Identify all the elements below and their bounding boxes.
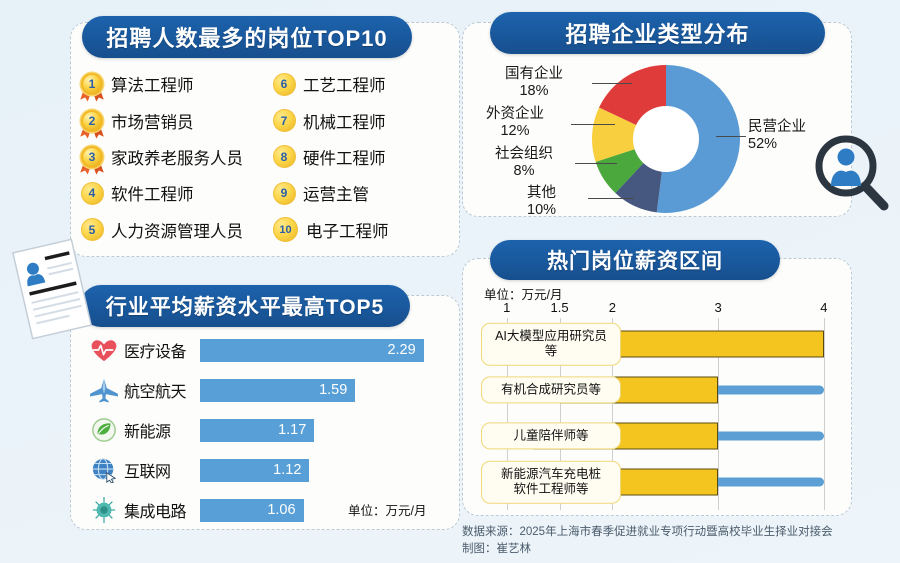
job-item: 8硬件工程师 (272, 139, 455, 175)
medal-badge-icon: 3 (80, 145, 104, 169)
footer: 数据来源：2025年上海市春季促进就业专项行动暨高校毕业生择业对接会 制图：崔艺… (462, 524, 892, 559)
job-title: 运营主管 (303, 181, 369, 205)
rank-badge-icon: 6 (272, 72, 296, 96)
donut-label-waizi: 外资企业 12% (486, 106, 544, 140)
enterprise-type-donut-chart (590, 63, 742, 215)
rank-badge-icon: 5 (80, 218, 104, 242)
top5-salary-title: 行业平均薪资水平最高TOP5 (80, 285, 410, 327)
industry-name: 互联网 (124, 458, 200, 482)
donut-leader-guoyou (592, 83, 632, 84)
donut-label-qita: 其他 10% (527, 185, 556, 219)
industry-name: 医疗设备 (124, 338, 200, 362)
salary-bar-row: 新能源1.17 (84, 410, 454, 450)
job-title: 机械工程师 (303, 109, 386, 133)
airplane-icon (84, 374, 124, 406)
medal-badge-icon: 1 (80, 72, 104, 96)
salary-range-chart: 11.5234AI大模型应用研究员等有机合成研究员等儿童陪伴师等新能源汽车充电桩… (475, 300, 845, 510)
axis-tick-label: 1 (503, 300, 510, 315)
rank-badge-icon: 10 (272, 218, 299, 242)
rank-badge-icon: 4 (80, 181, 104, 205)
donut-leader-qita (588, 198, 634, 199)
top10-jobs-list: 1算法工程师2市场营销员3家政养老服务人员4软件工程师5人力资源管理人员6工艺工… (80, 66, 455, 248)
job-title: 算法工程师 (111, 72, 194, 96)
footer-credit: 制图：崔艺林 (462, 541, 892, 558)
rank-number: 6 (273, 73, 296, 96)
job-item: 5人力资源管理人员 (80, 212, 272, 248)
rank-number: 9 (273, 182, 296, 205)
axis-tick-label: 1.5 (551, 300, 569, 315)
rank-number: 7 (273, 109, 296, 132)
range-box (612, 331, 823, 358)
rank-badge-icon: 8 (272, 145, 296, 169)
axis-tick-label: 4 (820, 300, 827, 315)
globe-cursor-icon (84, 454, 124, 486)
job-title: 软件工程师 (111, 181, 194, 205)
bar-fill: 1.59 (200, 379, 355, 402)
bar-value-label: 1.12 (273, 462, 301, 478)
job-title: 电子工程师 (306, 218, 389, 242)
donut-label-shehui: 社会组织 8% (495, 146, 553, 180)
range-row: AI大模型应用研究员等 (475, 322, 845, 366)
job-title: 人力资源管理人员 (111, 218, 243, 242)
donut-label-guoyou: 国有企业 18% (505, 66, 563, 100)
salary-bar-row: 互联网1.12 (84, 450, 454, 490)
range-row: 新能源汽车充电桩 软件工程师等 (475, 460, 845, 504)
donut-leader-shehui (575, 163, 617, 164)
bar-fill: 1.06 (200, 499, 304, 522)
job-title: 工艺工程师 (303, 72, 386, 96)
salary-bar-row: 航空航天1.59 (84, 370, 454, 410)
axis-tick-label: 3 (715, 300, 722, 315)
range-job-label: 儿童陪伴师等 (481, 422, 621, 449)
top10-jobs-title: 招聘人数最多的岗位TOP10 (82, 16, 412, 58)
range-row: 儿童陪伴师等 (475, 414, 845, 458)
leaf-recycle-icon (84, 414, 124, 446)
rank-number: 10 (273, 217, 298, 242)
bar-track: 1.59 (200, 379, 454, 402)
rank-badge-icon: 9 (272, 181, 296, 205)
range-job-label: 新能源汽车充电桩 软件工程师等 (481, 461, 621, 504)
rank-number: 4 (81, 182, 104, 205)
range-job-label: 有机合成研究员等 (481, 376, 621, 403)
industry-name: 航空航天 (124, 378, 200, 402)
salary-range-title: 热门岗位薪资区间 (490, 240, 780, 280)
job-title: 家政养老服务人员 (111, 145, 243, 169)
bar-value-label: 1.06 (267, 502, 295, 518)
range-row: 有机合成研究员等 (475, 368, 845, 412)
rank-number: 2 (81, 110, 103, 132)
bar-value-label: 1.59 (319, 382, 347, 398)
job-item: 1算法工程师 (80, 66, 272, 102)
footer-source: 数据来源：2025年上海市春季促进就业专项行动暨高校毕业生择业对接会 (462, 524, 892, 541)
axis-tick-label: 2 (609, 300, 616, 315)
rank-number: 3 (81, 146, 103, 168)
job-item: 4软件工程师 (80, 175, 272, 211)
job-title: 市场营销员 (111, 109, 194, 133)
industry-name: 新能源 (124, 418, 200, 442)
top5-salary-unit: 单位：万元/月 (348, 500, 426, 519)
bar-fill: 2.29 (200, 339, 424, 362)
bar-fill: 1.17 (200, 419, 314, 442)
job-item: 2市场营销员 (80, 102, 272, 138)
job-item: 9运营主管 (272, 175, 455, 211)
industry-name: 集成电路 (124, 498, 200, 522)
medal-badge-icon: 2 (80, 109, 104, 133)
enterprise-type-title: 招聘企业类型分布 (490, 12, 825, 54)
donut-svg (590, 63, 742, 215)
range-job-label: AI大模型应用研究员等 (481, 323, 621, 366)
donut-leader-waizi (571, 124, 615, 125)
bar-value-label: 2.29 (387, 342, 415, 358)
bar-track: 2.29 (200, 339, 454, 362)
chip-icon (84, 494, 124, 526)
bar-track: 1.17 (200, 419, 454, 442)
job-title: 硬件工程师 (303, 145, 386, 169)
heart-pulse-icon (84, 334, 124, 366)
rank-badge-icon: 7 (272, 109, 296, 133)
job-item: 3家政养老服务人员 (80, 139, 272, 175)
rank-number: 5 (81, 218, 104, 241)
job-item: 10电子工程师 (272, 212, 455, 248)
bar-fill: 1.12 (200, 459, 309, 482)
rank-number: 1 (81, 73, 103, 95)
salary-bar-row: 医疗设备2.29 (84, 330, 454, 370)
donut-label-minying: 民营企业 52% (748, 119, 806, 153)
job-item: 6工艺工程师 (272, 66, 455, 102)
rank-number: 8 (273, 145, 296, 168)
bar-track: 1.12 (200, 459, 454, 482)
bar-value-label: 1.17 (278, 422, 306, 438)
magnifier-person-icon (812, 134, 892, 216)
donut-leader-minying (716, 136, 746, 137)
job-item: 7机械工程师 (272, 102, 455, 138)
